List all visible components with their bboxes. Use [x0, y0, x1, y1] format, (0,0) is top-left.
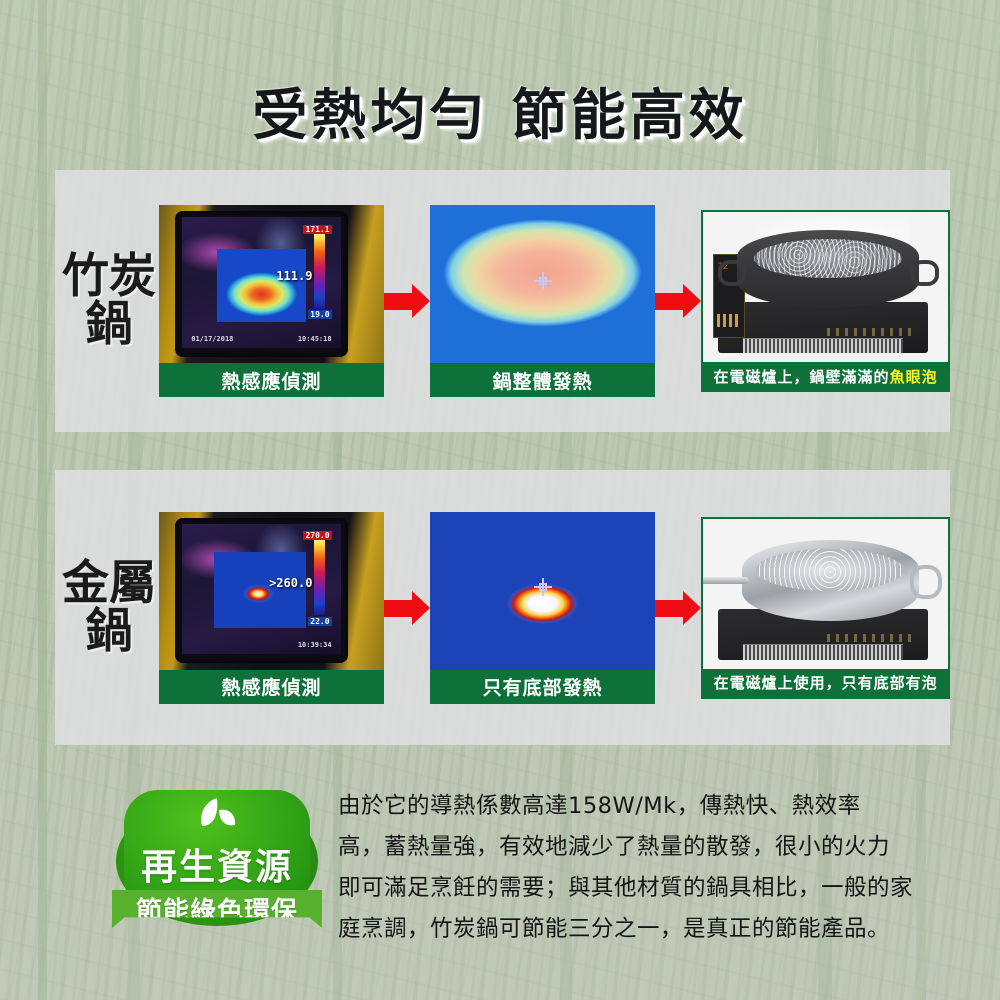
temperature-min-readout: 22.0: [308, 617, 331, 626]
cooker-vent-grille: [743, 644, 903, 659]
pot-handle-right: [910, 260, 939, 287]
crosshair-icon: [534, 272, 552, 290]
temperature-color-scale: [314, 228, 325, 309]
thermal-image-bottom-only-heating: [430, 512, 655, 670]
arrow-right-icon: [655, 284, 701, 318]
temperature-max-readout: 270.0: [303, 531, 331, 540]
thermal-overlay-region: [217, 249, 306, 322]
temperature-color-scale: [314, 534, 325, 615]
temperature-min-readout: 19.0: [308, 310, 331, 319]
comparison-panel-metal-pot: 金屬鍋 °C 270.0 >260.0 22.0 10:39:34 熱: [55, 470, 950, 745]
caption-text: 在電磁爐上使用，只有底部有泡: [714, 672, 938, 693]
thermal-camera-photo-bamboo: °C 171.1 111.9 19.0 01/17/2018 10:45:18: [159, 205, 384, 363]
photo-steel-pan-on-induction-cooker: [703, 519, 948, 669]
camera-screen: °C 270.0 >260.0 22.0 10:39:34: [182, 524, 341, 655]
description-line-1: 由於它的導熱係數高達158W/Mk，傳熱快、熱效率: [338, 786, 948, 827]
step-card-bamboo-pot-on-cooker: 22 在電磁爐上，鍋壁滿滿的魚眼泡: [701, 210, 950, 392]
step-caption-thermal-detection-bamboo: 熱感應偵測: [159, 363, 384, 397]
row-label-metal-pot: 金屬鍋: [59, 560, 159, 656]
camera-bezel: °C 171.1 111.9 19.0 01/17/2018 10:45:18: [175, 211, 348, 356]
boiling-water-surface: [756, 549, 904, 591]
cooker-control-panel-marks: [827, 328, 911, 336]
arrow-right-icon: [655, 591, 701, 625]
description-line-3: 即可滿足烹飪的需要；與其他材質的鍋具相比，一般的家: [338, 868, 948, 909]
arrow-right-icon: [384, 284, 430, 318]
step-caption-bottom-only-heating: 只有底部發熱: [430, 670, 655, 704]
caption-text: 鍋整體發熱: [493, 367, 593, 394]
step-card-steel-pan-on-cooker: 在電磁爐上使用，只有底部有泡: [701, 517, 950, 699]
caption-text: 熱感應偵測: [222, 367, 322, 394]
step-card-bottom-only-heating: 只有底部發熱: [430, 512, 655, 704]
caption-text: 在電磁爐上，鍋壁滿滿的: [714, 366, 890, 387]
row-label-bamboo-charcoal-pot: 竹炭鍋: [59, 253, 159, 349]
photo-bamboo-charcoal-pot-on-induction-cooker: 22: [703, 212, 948, 362]
induction-cooker: [718, 302, 929, 353]
step-card-thermal-detection-metal: °C 270.0 >260.0 22.0 10:39:34 熱感應偵測: [159, 512, 384, 704]
temperature-spot-readout: >260.0: [269, 576, 312, 590]
step-caption-steel-pan-on-cooker: 在電磁爐上使用，只有底部有泡: [703, 669, 948, 697]
step-caption-thermal-detection-metal: 熱感應偵測: [159, 670, 384, 704]
capture-time-label: 10:45:18: [298, 335, 332, 343]
capture-time-label: 10:39:34: [298, 641, 332, 649]
camera-bezel: °C 270.0 >260.0 22.0 10:39:34: [175, 518, 348, 663]
camera-screen: °C 171.1 111.9 19.0 01/17/2018 10:45:18: [182, 217, 341, 348]
description-line-2: 高，蓄熱量強，有效地減少了熱量的散發，很小的火力: [338, 827, 948, 868]
comparison-panel-bamboo-charcoal-pot: 竹炭鍋 °C 171.1 111.9 19.0 01/17/2018 10:45…: [55, 170, 950, 432]
bamboo-charcoal-pot: [737, 230, 918, 308]
cooker-vent-grille: [743, 338, 903, 353]
cooker-keypad: [717, 314, 741, 327]
caption-highlight-text: 魚眼泡: [890, 366, 938, 387]
thermal-image-whole-pot-heating: [430, 205, 655, 363]
eco-badge: 再生資源 節能綠色環保: [112, 790, 322, 940]
thermal-camera-photo-metal: °C 270.0 >260.0 22.0 10:39:34: [159, 512, 384, 670]
temperature-max-readout: 171.1: [303, 225, 331, 234]
page-title: 受熱均勻 節能高效: [0, 70, 1000, 150]
description-line-4: 庭烹調，竹炭鍋可節能三分之一，是真正的節能產品。: [338, 909, 948, 950]
boiling-water-surface: [754, 239, 903, 278]
thermal-overlay-region: [214, 552, 306, 628]
crosshair-icon: [534, 578, 552, 596]
pan-helper-handle: [910, 565, 942, 599]
caption-text: 只有底部發熱: [483, 673, 603, 700]
step-caption-whole-pot-heating: 鍋整體發熱: [430, 363, 655, 397]
badge-main-label: 再生資源: [112, 838, 322, 890]
caption-text: 熱感應偵測: [222, 673, 322, 700]
temperature-spot-readout: 111.9: [276, 269, 312, 283]
pot-handle-left: [718, 260, 747, 287]
arrow-right-icon: [384, 591, 430, 625]
stainless-steel-pan: [742, 540, 918, 621]
cooker-control-panel-marks: [827, 634, 911, 642]
description-paragraph: 由於它的導熱係數高達158W/Mk，傳熱快、熱效率 高，蓄熱量強，有效地減少了熱…: [338, 786, 948, 950]
pan-handle: [703, 577, 749, 584]
step-card-whole-pot-heating: 鍋整體發熱: [430, 205, 655, 397]
capture-date-label: 01/17/2018: [191, 335, 233, 343]
step-card-thermal-detection-bamboo: °C 171.1 111.9 19.0 01/17/2018 10:45:18 …: [159, 205, 384, 397]
two-leaves-icon: [112, 796, 322, 841]
step-caption-bamboo-pot-on-cooker: 在電磁爐上，鍋壁滿滿的魚眼泡: [703, 362, 948, 390]
